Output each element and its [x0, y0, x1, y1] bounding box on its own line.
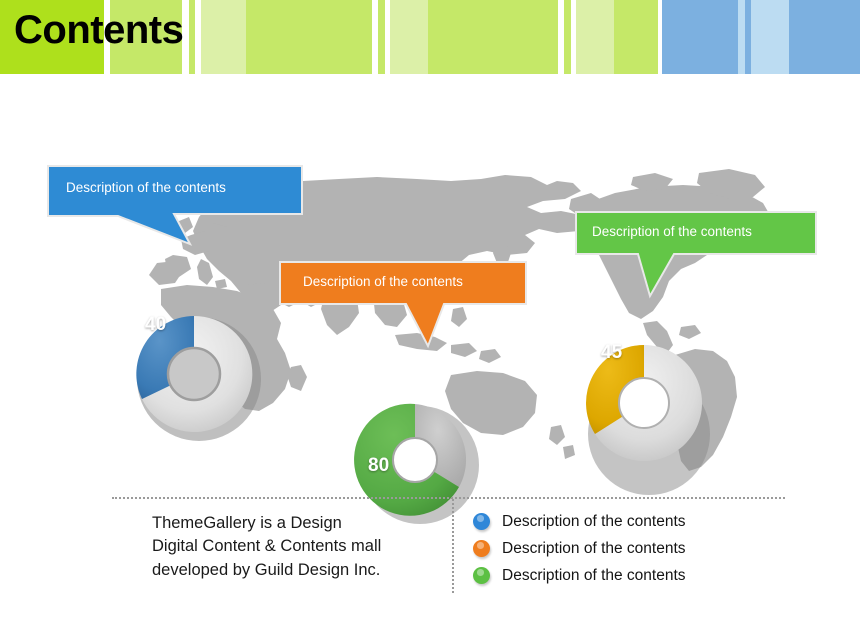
header-band: Contents [0, 0, 860, 74]
header-stripe-19 [662, 0, 738, 74]
header-stripe-14 [564, 0, 571, 74]
donut-chart-blue: 40 [110, 272, 285, 467]
callout-orange[interactable]: Description of the contents [278, 262, 538, 362]
legend-item-blue[interactable]: Description of the contents [473, 508, 793, 535]
callout-blue-bubble [48, 166, 302, 244]
vertical-divider [452, 499, 454, 593]
legend-label-green: Description of the contents [502, 567, 686, 585]
header-stripe-12 [428, 0, 558, 74]
header-stripe-11 [390, 0, 428, 74]
header-stripe-22 [751, 0, 789, 74]
legend-bullet-green-icon [473, 567, 490, 584]
legend-label-blue: Description of the contents [502, 513, 686, 531]
header-stripe-20 [738, 0, 745, 74]
blurb-text: ThemeGallery is a Design Digital Content… [152, 512, 442, 582]
bottom-area: ThemeGallery is a Design Digital Content… [0, 494, 860, 638]
header-stripe-16 [576, 0, 614, 74]
callout-green[interactable]: Description of the contents [574, 212, 824, 312]
header-stripe-6 [201, 0, 246, 74]
header-stripe-7 [246, 0, 372, 74]
header-stripe-23 [789, 0, 860, 74]
callout-orange-text: Description of the contents [303, 274, 463, 289]
legend-item-orange[interactable]: Description of the contents [473, 535, 793, 562]
page-title: Contents [14, 8, 183, 52]
callout-green-text: Description of the contents [592, 224, 752, 239]
legend-bullet-orange-icon [473, 540, 490, 557]
legend: Description of the contents Description … [473, 508, 793, 589]
legend-label-orange: Description of the contents [502, 540, 686, 558]
blurb-line-1: ThemeGallery is a Design [152, 512, 442, 535]
legend-bullet-blue-icon [473, 513, 490, 530]
callout-blue[interactable]: Description of the contents [44, 166, 314, 256]
horizontal-divider [112, 497, 785, 499]
legend-item-green[interactable]: Description of the contents [473, 562, 793, 589]
blurb-line-2: Digital Content & Contents mall [152, 535, 442, 558]
header-stripe-17 [614, 0, 658, 74]
donut-chart-gold: 45 [570, 309, 745, 499]
callout-blue-text: Description of the contents [66, 180, 226, 195]
blurb-line-3: developed by Guild Design Inc. [152, 559, 442, 582]
header-stripe-9 [378, 0, 385, 74]
map-stage: 40 80 [0, 74, 860, 504]
